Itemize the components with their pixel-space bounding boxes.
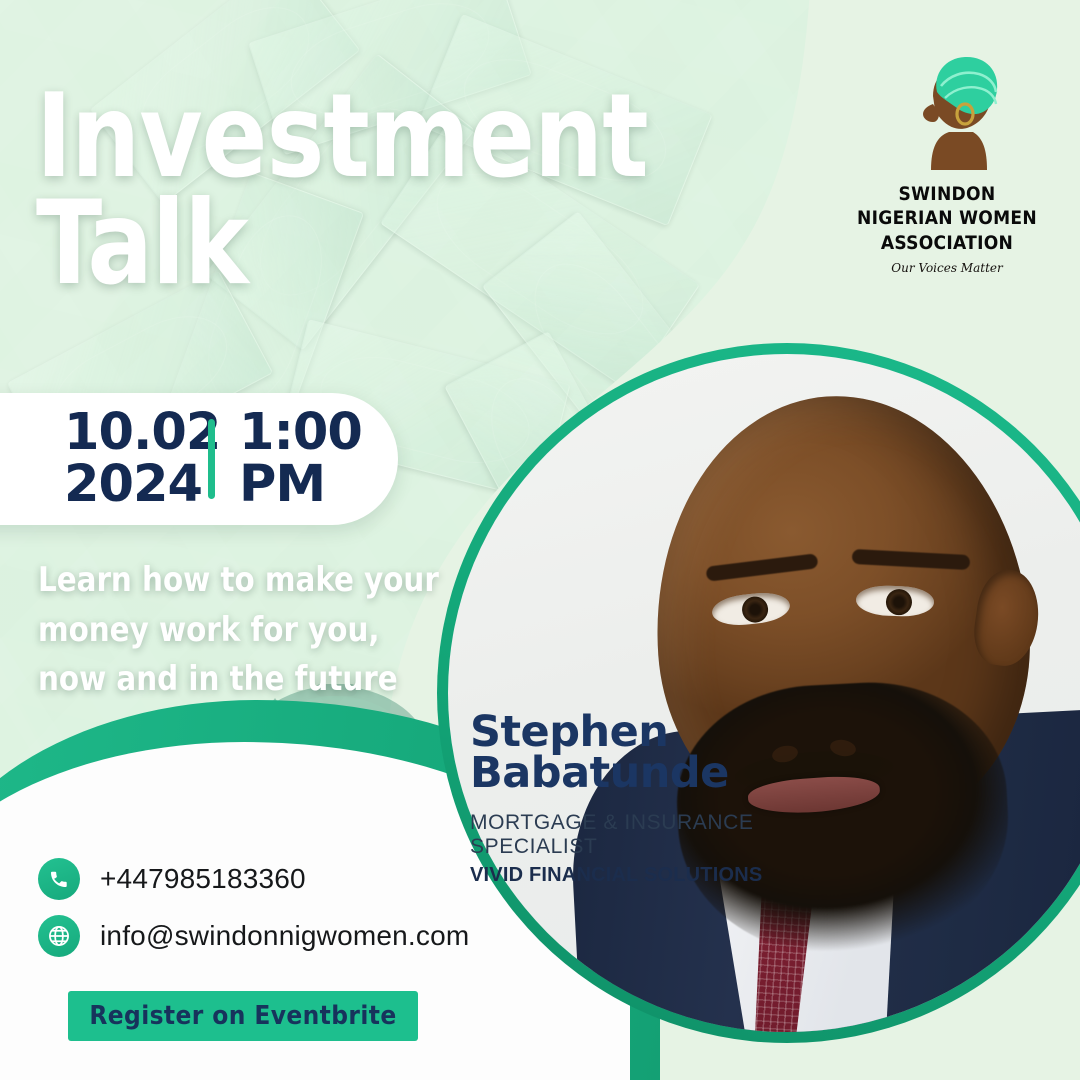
event-time-meridiem: PM — [239, 459, 349, 511]
logo-tagline: Our Voices Matter — [852, 261, 1042, 275]
poster-title: Investment Talk — [36, 84, 613, 297]
phone-icon — [38, 858, 80, 900]
contact-email[interactable]: info@swindonnigwomen.com — [38, 915, 469, 957]
event-time-value: 1:00 — [239, 407, 349, 459]
speaker-portrait-illustration — [448, 354, 1080, 1032]
speaker-first-name: Stephen — [470, 712, 870, 753]
logo-line-2: NIGERIAN WOMEN — [852, 206, 1042, 230]
globe-icon — [38, 915, 80, 957]
event-date-year: 2024 — [64, 459, 200, 511]
logo-line-1: SWINDON — [852, 182, 1042, 206]
event-time: 1:00 PM — [239, 407, 349, 511]
african-woman-headwrap-icon — [887, 52, 1007, 182]
phone-number: +447985183360 — [100, 863, 306, 895]
poster-canvas: Investment Talk 10.02 2024 1:00 PM Learn… — [0, 0, 1080, 1080]
pill-divider — [208, 419, 215, 499]
event-date: 10.02 2024 — [64, 407, 200, 511]
organization-logo: SWINDON NIGERIAN WOMEN ASSOCIATION Our V… — [852, 52, 1042, 275]
email-address: info@swindonnigwomen.com — [100, 920, 469, 952]
speaker-name: Stephen Babatunde — [470, 712, 870, 795]
logo-line-3: ASSOCIATION — [852, 231, 1042, 255]
poster-tagline: Learn how to make your money work for yo… — [38, 556, 441, 705]
event-datetime-pill: 10.02 2024 1:00 PM — [0, 393, 398, 525]
register-button[interactable]: Register on Eventbrite — [68, 991, 418, 1041]
title-line-1: Investment — [36, 84, 613, 191]
contact-phone[interactable]: +447985183360 — [38, 858, 306, 900]
title-line-2: Talk — [36, 191, 613, 298]
event-date-day: 10.02 — [64, 407, 200, 459]
speaker-info: Stephen Babatunde MORTGAGE & INSURANCE S… — [470, 712, 870, 887]
speaker-role: MORTGAGE & INSURANCE SPECIALIST — [470, 811, 870, 859]
speaker-photo — [448, 354, 1080, 1032]
speaker-company: VIVID FINANCIAL SOLUTIONS — [470, 864, 870, 887]
speaker-photo-ring — [437, 343, 1080, 1043]
speaker-last-name: Babatunde — [470, 753, 870, 794]
